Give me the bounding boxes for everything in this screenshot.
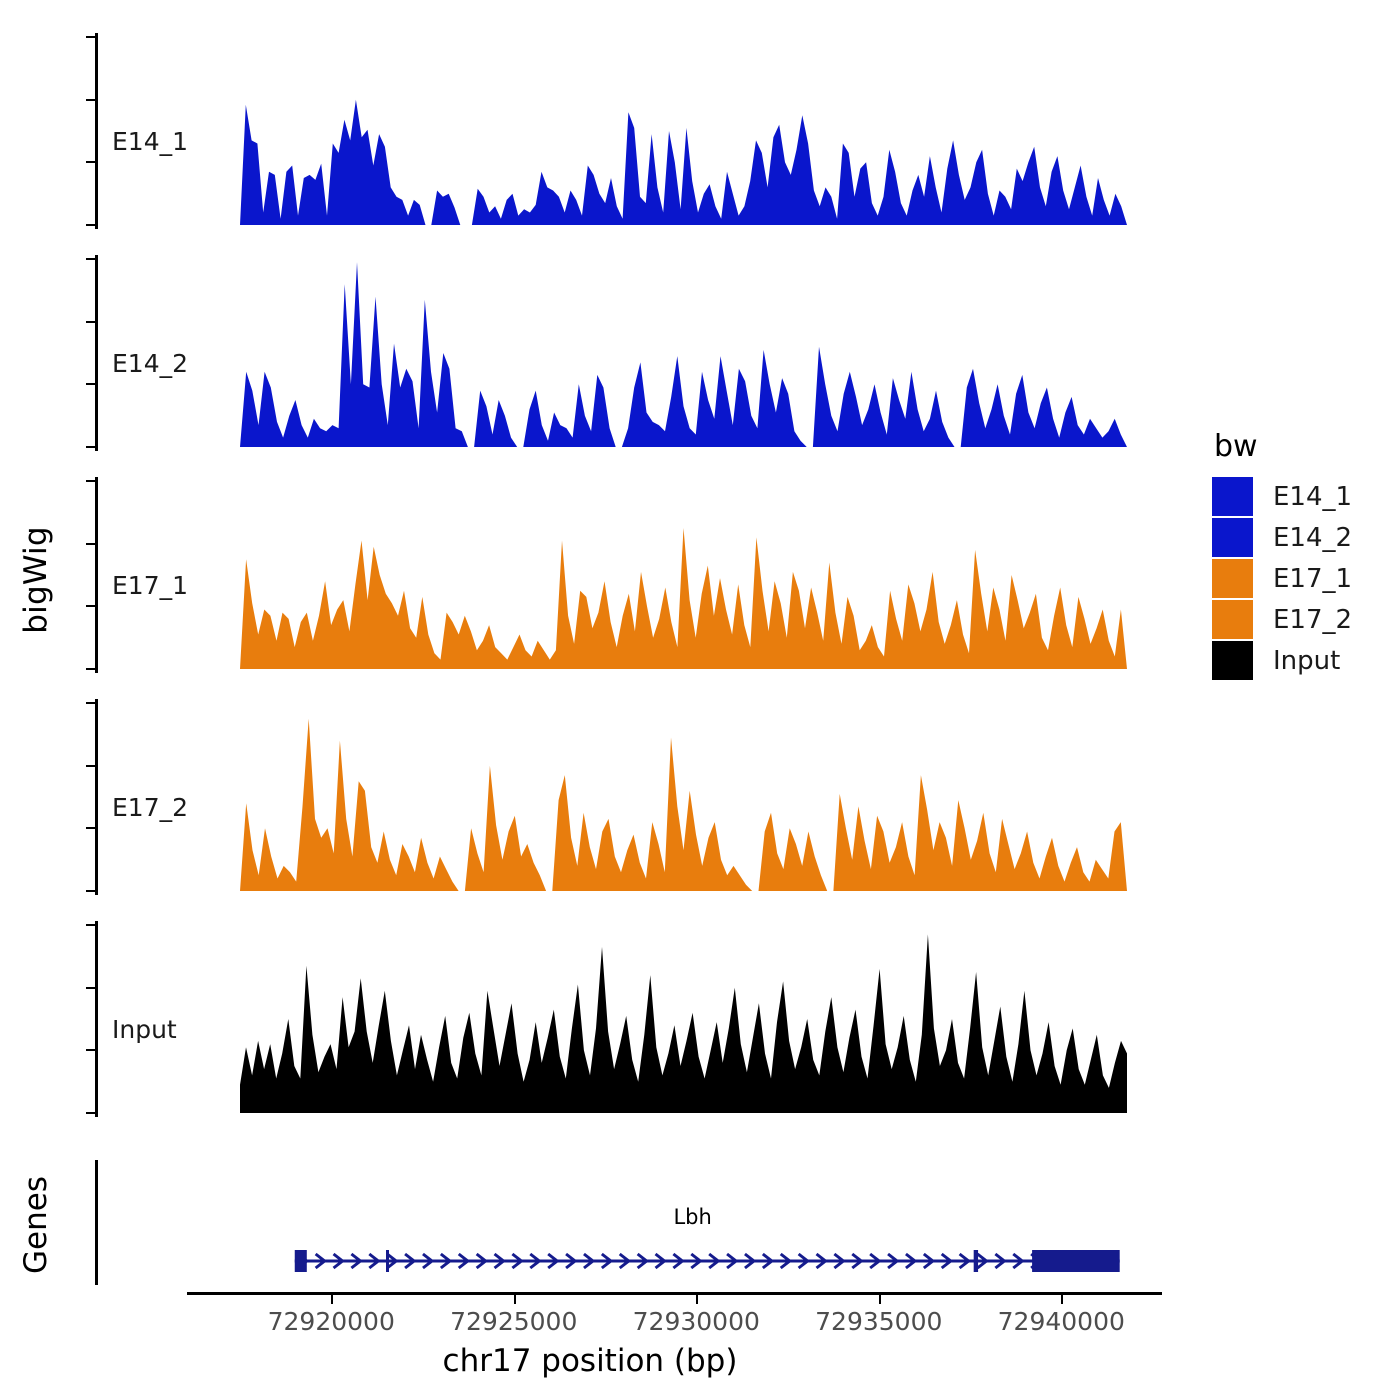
x-tick-label-0: 72920000 bbox=[268, 1307, 395, 1336]
legend: bw E14_1E14_2E17_1E17_2Input bbox=[1212, 432, 1392, 681]
bigwig-genome-browser-figure: bigWig Genes 0123E14_10123E14_20123E17_1… bbox=[0, 0, 1400, 1400]
legend-item-input[interactable]: Input bbox=[1212, 640, 1392, 681]
x-tick-3 bbox=[879, 1295, 881, 1304]
gene-model-lbh[interactable] bbox=[0, 0, 1180, 1400]
legend-swatch-e14_1 bbox=[1212, 477, 1253, 516]
legend-label-e14_2: E14_2 bbox=[1273, 523, 1352, 553]
x-tick-0 bbox=[331, 1295, 333, 1304]
gene-exon-1 bbox=[295, 1250, 307, 1272]
legend-item-e17_2[interactable]: E17_2 bbox=[1212, 599, 1392, 640]
legend-label-e14_1: E14_1 bbox=[1273, 482, 1352, 512]
legend-swatch-e17_1 bbox=[1212, 559, 1253, 598]
legend-rows: E14_1E14_2E17_1E17_2Input bbox=[1212, 476, 1392, 681]
legend-swatch-input bbox=[1212, 641, 1253, 680]
x-tick-4 bbox=[1061, 1295, 1063, 1304]
x-axis-title: chr17 position (bp) bbox=[0, 1343, 1180, 1379]
legend-item-e14_1[interactable]: E14_1 bbox=[1212, 476, 1392, 517]
x-tick-label-4: 72940000 bbox=[998, 1307, 1125, 1336]
legend-swatch-e17_2 bbox=[1212, 600, 1253, 639]
legend-label-input: Input bbox=[1273, 646, 1340, 676]
legend-swatch-e14_2 bbox=[1212, 518, 1253, 557]
gene-exon-2 bbox=[386, 1250, 389, 1272]
x-tick-label-1: 72925000 bbox=[450, 1307, 577, 1336]
legend-title: bw bbox=[1214, 432, 1392, 462]
x-tick-label-3: 72935000 bbox=[815, 1307, 942, 1336]
x-axis-line bbox=[187, 1292, 1162, 1295]
gene-exon-3 bbox=[974, 1250, 978, 1272]
x-tick-1 bbox=[514, 1295, 516, 1304]
gene-name-label: Lbh bbox=[673, 1205, 711, 1229]
legend-label-e17_2: E17_2 bbox=[1273, 605, 1352, 635]
x-tick-2 bbox=[696, 1295, 698, 1304]
x-tick-label-2: 72930000 bbox=[633, 1307, 760, 1336]
legend-label-e17_1: E17_1 bbox=[1273, 564, 1352, 594]
legend-item-e14_2[interactable]: E14_2 bbox=[1212, 517, 1392, 558]
legend-item-e17_1[interactable]: E17_1 bbox=[1212, 558, 1392, 599]
gene-exon-4 bbox=[1032, 1250, 1120, 1272]
